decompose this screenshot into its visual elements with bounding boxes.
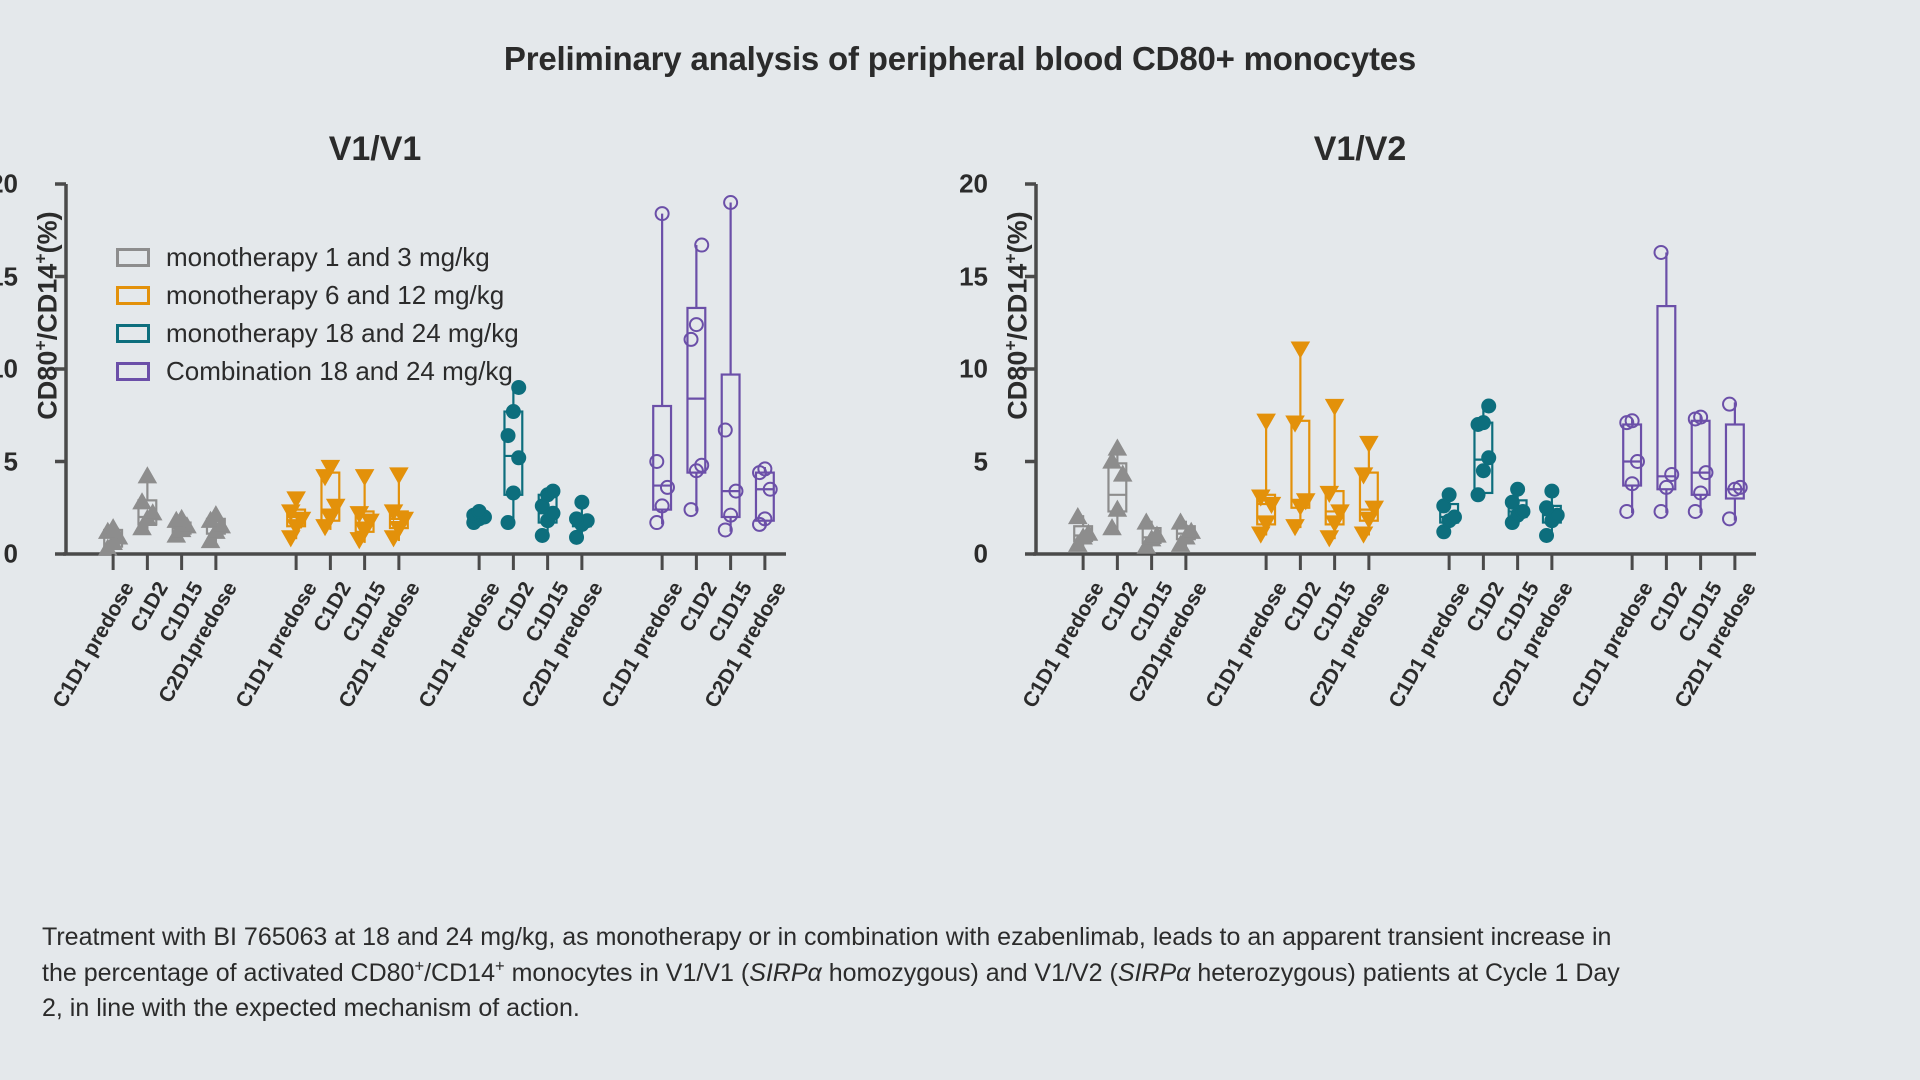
data-point <box>1511 483 1524 496</box>
data-point <box>1360 437 1377 452</box>
data-point <box>1477 464 1490 477</box>
y-tick-label: 0 <box>934 539 988 570</box>
legend-label: monotherapy 6 and 12 mg/kg <box>166 280 504 311</box>
data-point <box>1109 501 1126 516</box>
data-point <box>1448 511 1461 524</box>
data-point <box>512 451 525 464</box>
legend-item-0[interactable]: monotherapy 1 and 3 mg/kg <box>116 238 519 276</box>
y-tick-label: 5 <box>934 446 988 477</box>
box-group <box>1252 342 1382 570</box>
legend-item-1[interactable]: monotherapy 6 and 12 mg/kg <box>116 276 519 314</box>
data-point <box>139 468 156 483</box>
y-tick-label: 20 <box>934 169 988 200</box>
plot-area-v1v2: 05101520C1D1 predoseC1D2C1D15C2D1predose… <box>1010 178 1760 574</box>
box <box>1657 306 1675 489</box>
data-point <box>507 405 520 418</box>
boxplot-svg <box>1010 178 1760 574</box>
data-point <box>570 512 583 525</box>
box-group <box>467 381 593 570</box>
data-point <box>546 485 559 498</box>
chart-page: Preliminary analysis of peripheral blood… <box>0 0 1920 1080</box>
x-tick-label: C1D1 predose <box>415 578 506 712</box>
data-point <box>1355 468 1372 483</box>
data-point <box>1545 485 1558 498</box>
y-tick-label: 10 <box>934 354 988 385</box>
legend-swatch-icon <box>116 286 150 305</box>
legend-swatch-icon <box>116 248 150 267</box>
legend-label: monotherapy 1 and 3 mg/kg <box>166 242 490 273</box>
legend: monotherapy 1 and 3 mg/kgmonotherapy 6 a… <box>116 238 519 390</box>
data-point <box>1506 496 1519 509</box>
data-point <box>502 516 515 529</box>
data-point <box>356 470 373 485</box>
data-point <box>1258 414 1275 429</box>
data-point <box>1516 505 1529 518</box>
legend-item-3[interactable]: Combination 18 and 24 mg/kg <box>116 352 519 390</box>
x-tick-label: C1D1 predose <box>1019 578 1110 712</box>
data-point <box>690 318 703 331</box>
data-point <box>570 531 583 544</box>
y-tick-label: 5 <box>0 446 18 477</box>
box-group <box>1069 440 1199 570</box>
data-point <box>1477 416 1490 429</box>
data-point <box>502 429 515 442</box>
box-group <box>1437 400 1563 571</box>
y-tick-label: 0 <box>0 539 18 570</box>
data-point <box>507 486 520 499</box>
y-tick-label: 10 <box>0 354 18 385</box>
data-point <box>1540 529 1553 542</box>
y-tick-label: 20 <box>0 169 18 200</box>
x-tick-label: C1D1 predose <box>1385 578 1476 712</box>
data-point <box>1472 488 1485 501</box>
box <box>1692 421 1710 495</box>
data-point <box>1482 451 1495 464</box>
legend-item-2[interactable]: monotherapy 18 and 24 mg/kg <box>116 314 519 352</box>
legend-label: Combination 18 and 24 mg/kg <box>166 356 513 387</box>
y-tick-label: 15 <box>0 261 18 292</box>
figure-caption: Treatment with BI 765063 at 18 and 24 mg… <box>42 920 1642 1027</box>
data-point <box>390 468 407 483</box>
box-group <box>1620 246 1746 570</box>
data-point <box>1443 488 1456 501</box>
box-group <box>650 196 776 570</box>
x-tick-label: C1D1 predose <box>49 578 140 712</box>
x-tick-label: C1D1 predose <box>232 578 323 712</box>
data-point <box>1482 400 1495 413</box>
legend-swatch-icon <box>116 324 150 343</box>
legend-label: monotherapy 18 and 24 mg/kg <box>166 318 519 349</box>
x-tick-label: C1D1 predose <box>1202 578 1293 712</box>
caption-line-1: Treatment with BI 765063 at 18 and 24 mg… <box>42 923 1381 951</box>
data-point <box>536 529 549 542</box>
panel-title-v1v2: V1/V2 <box>910 130 1810 169</box>
data-point <box>1326 400 1343 415</box>
x-tick-label: C1D1 predose <box>598 578 689 712</box>
legend-swatch-icon <box>116 362 150 381</box>
x-tick-label: C1D1 predose <box>1568 578 1659 712</box>
data-point <box>575 496 588 509</box>
data-point <box>1540 501 1553 514</box>
data-point <box>1321 487 1338 502</box>
panel-title-v1v1: V1/V1 <box>0 130 840 169</box>
page-title: Preliminary analysis of peripheral blood… <box>0 40 1920 78</box>
data-point <box>1109 440 1126 455</box>
data-point <box>1287 416 1304 431</box>
y-tick-label: 15 <box>934 261 988 292</box>
data-point <box>473 505 486 518</box>
data-point <box>1292 342 1309 357</box>
